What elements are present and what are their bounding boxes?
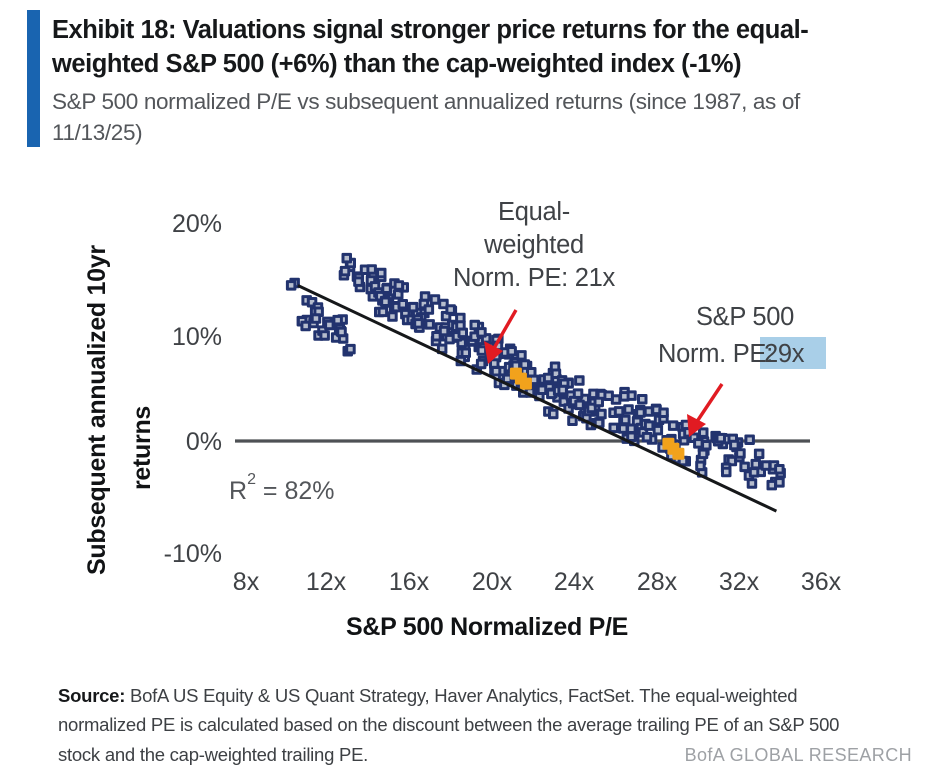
scatter-point-core: [546, 376, 551, 381]
scatter-point-core: [433, 297, 438, 302]
highlight-marker: [520, 378, 532, 390]
scatter-point-core: [629, 435, 634, 440]
scatter-point-core: [698, 464, 703, 469]
scatter-point-core: [622, 394, 627, 399]
y-tick-label: 0%: [186, 428, 222, 456]
scatter-point-core: [369, 267, 374, 272]
annotation-sp500: S&P 500 Norm. PE: 29x: [658, 303, 826, 437]
scatter-point-core: [339, 330, 344, 335]
scatter-point-core: [461, 331, 466, 336]
scatter-point-core: [777, 480, 782, 485]
x-tick-label: 36x: [801, 568, 842, 596]
scatter-point-core: [606, 394, 611, 399]
y-axis-title-line1: Subsequent annualized 10yr: [83, 245, 111, 575]
scatter-point-core: [591, 392, 596, 397]
scatter-point-core: [754, 462, 759, 467]
scatter-point-core: [335, 318, 340, 323]
scatter-point-core: [383, 300, 388, 305]
scatter-point-core: [356, 279, 361, 284]
scatter-point-core: [597, 421, 602, 426]
scatter-point-core: [553, 365, 558, 370]
accent-bar: [27, 10, 40, 147]
scatter-point-core: [427, 322, 432, 327]
scatter-point-core: [757, 452, 762, 457]
scatter-point-core: [738, 451, 743, 456]
y-tick-label: -10%: [164, 540, 222, 568]
scatter-point-core: [401, 302, 406, 307]
scatter-point-core: [379, 271, 384, 276]
scatter-point-core: [701, 430, 706, 435]
scatter-point-core: [724, 470, 729, 475]
x-tick-label: 12x: [306, 568, 347, 596]
scatter-point-core: [612, 426, 617, 431]
scatter-point-core: [411, 305, 416, 310]
scatter-point-core: [458, 316, 463, 321]
scatter-point-core: [732, 443, 737, 448]
x-tick-label: 32x: [719, 568, 760, 596]
scatter-point-core: [704, 443, 709, 448]
scatter-point-core: [540, 388, 545, 393]
scatter-point-core: [638, 410, 643, 415]
scatter-point-core: [390, 314, 395, 319]
scatter-point-core: [442, 329, 447, 334]
scatter-point-core: [617, 409, 622, 414]
scatter-point-core: [645, 435, 650, 440]
y-tick-label: 10%: [172, 323, 222, 351]
source-label: Source:: [58, 685, 125, 706]
annotation-line: Norm. PE: 21x: [453, 264, 615, 292]
scatter-point-core: [777, 467, 782, 472]
page-title: Exhibit 18: Valuations signal stronger p…: [52, 14, 892, 81]
scatter-point-core: [464, 351, 469, 356]
scatter-point-core: [621, 426, 626, 431]
scatter-point-core: [523, 362, 528, 367]
scatter-point-core: [640, 397, 645, 402]
annotation-value-highlighted: 29x: [764, 340, 805, 368]
x-axis-title: S&P 500 Normalized P/E: [346, 613, 628, 641]
scatter-point-core: [684, 423, 689, 428]
scatter-point-core: [647, 409, 652, 414]
scatter-point-core: [473, 323, 478, 328]
scatter-point-core: [589, 406, 594, 411]
scatter-point-core: [696, 441, 701, 446]
x-tick-label: 28x: [637, 568, 678, 596]
scatter-point-core: [661, 411, 666, 416]
scatter-point-core: [396, 292, 401, 297]
scatter-point-core: [551, 412, 556, 417]
x-tick-label: 24x: [554, 568, 595, 596]
annotation-line: S&P 500: [696, 303, 794, 331]
scatter-point-core: [434, 334, 439, 339]
scatter-point-core: [479, 362, 484, 367]
x-axis-ticks: 8x 12x 16x 20x 24x 28x 32x 36x: [233, 568, 842, 596]
scatter-point-core: [529, 370, 534, 375]
scatter-point-core: [576, 391, 581, 396]
scatter-point-core: [764, 463, 769, 468]
scatter-point-core: [348, 347, 353, 352]
page-subtitle: S&P 500 normalized P/E vs subsequent ann…: [52, 87, 892, 149]
scatter-point-core: [448, 307, 453, 312]
scatter-point-core: [314, 316, 319, 321]
annotation-line: Equal-: [498, 198, 570, 226]
scatter-point-core: [423, 294, 428, 299]
scatter-point-core: [289, 283, 294, 288]
scatter-point-core: [427, 307, 432, 312]
scatter-point-core: [599, 412, 604, 417]
scatter-point-core: [656, 428, 661, 433]
scatter-point-core: [505, 377, 510, 382]
scatter-point-core: [577, 378, 582, 383]
y-axis-ticks: 20% 10% 0% -10%: [164, 210, 222, 568]
y-tick-label: 20%: [172, 210, 222, 238]
scatter-point-core: [514, 364, 519, 369]
scatter-chart: 20% 10% 0% -10% Subsequent annualized 10…: [0, 165, 942, 650]
scatter-point-core: [560, 388, 565, 393]
scatter-point-core: [384, 287, 389, 292]
scatter-point-core: [381, 310, 386, 315]
scatter-point-core: [343, 269, 348, 274]
scatter-point-core: [671, 423, 676, 428]
scatter-point-core: [322, 333, 327, 338]
scatter-point-core: [416, 321, 421, 326]
scatter-point-core: [519, 353, 524, 358]
scatter-point-core: [719, 436, 724, 441]
scatter-point-core: [532, 378, 537, 383]
scatter-point-core: [441, 302, 446, 307]
scatter-point-core: [597, 400, 602, 405]
scatter-point-core: [623, 418, 628, 423]
r-squared-label: R2 = 82%: [229, 471, 335, 505]
scatter-point-core: [492, 361, 497, 366]
x-tick-label: 8x: [233, 568, 260, 596]
scatter-point-core: [447, 337, 452, 342]
scatter-point-core: [327, 323, 332, 328]
scatter-point-core: [509, 349, 514, 354]
scatter-point-core: [345, 256, 350, 261]
scatter-point-core: [303, 324, 308, 329]
scatter-point-core: [654, 408, 659, 413]
y-axis-title-line2: returns: [128, 406, 156, 490]
exhibit-header: Exhibit 18: Valuations signal stronger p…: [0, 0, 942, 165]
scatter-point-core: [614, 397, 619, 402]
annotation-line-prefix: Norm. PE:: [658, 340, 773, 368]
scatter-point-core: [742, 465, 747, 470]
scatter-point-core: [570, 419, 575, 424]
scatter-point-core: [458, 323, 463, 328]
chart-region: 20% 10% 0% -10% Subsequent annualized 10…: [0, 165, 942, 650]
scatter-point-core: [629, 393, 634, 398]
scatter-point-core: [629, 427, 634, 432]
scatter-point-core: [626, 407, 631, 412]
scatter-point-core: [480, 348, 485, 353]
scatter-point-core: [494, 369, 499, 374]
x-tick-label: 16x: [389, 568, 430, 596]
x-tick-label: 20x: [472, 568, 513, 596]
scatter-point-core: [752, 470, 757, 475]
title-block: Exhibit 18: Valuations signal stronger p…: [52, 14, 892, 149]
scatter-point-core: [440, 347, 445, 352]
y-axis-title: Subsequent annualized 10yr returns: [83, 245, 156, 575]
annotation-line: weighted: [483, 231, 584, 259]
scatter-point-core: [647, 423, 652, 428]
scatter-point-core: [479, 330, 484, 335]
scatter-point-core: [701, 452, 706, 457]
highlight-marker: [672, 448, 684, 460]
scatter-point-core: [577, 403, 582, 408]
scatter-point-core: [770, 483, 775, 488]
scatter-point-core: [750, 481, 755, 486]
scatter-point-core: [397, 283, 402, 288]
scatter-point-core: [747, 438, 752, 443]
research-watermark: BofA GLOBAL RESEARCH: [0, 745, 912, 766]
